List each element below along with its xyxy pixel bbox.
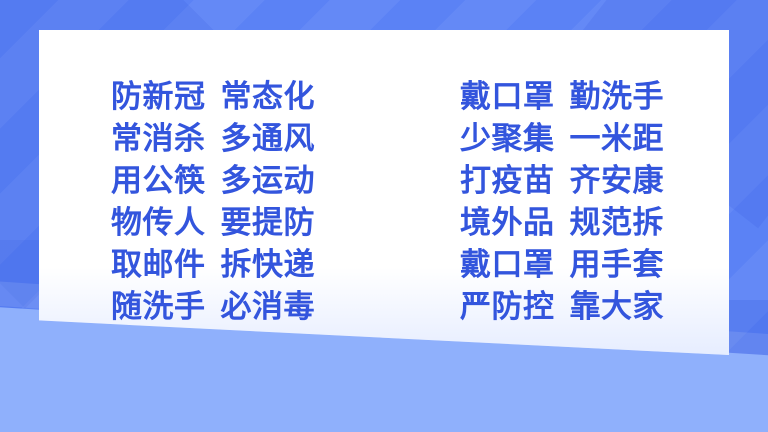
- slogan-phrase-a: 取邮件: [111, 245, 206, 285]
- slogan-line: 常消杀 多通风: [111, 119, 315, 159]
- slogan-phrase-a: 防新冠: [111, 77, 206, 117]
- slogan-line: 用公筷 多运动: [111, 161, 315, 201]
- slogan-phrase-b: 用手套: [570, 245, 665, 285]
- slogan-phrase-b: 要提防: [221, 203, 316, 243]
- slogan-phrase-a: 常消杀: [111, 119, 206, 159]
- slogan-line: 防新冠 常态化: [111, 77, 315, 117]
- slogan-line: 随洗手 必消毒: [111, 287, 315, 327]
- slogan-column-right: 戴口罩 勤洗手 少聚集 一米距 打疫苗 齐安康 境外品 规范拆 戴口罩: [403, 77, 729, 327]
- slogan-line: 打疫苗 齐安康: [460, 161, 664, 201]
- slogan-phrase-a: 戴口罩: [460, 245, 555, 285]
- slogan-phrase-a: 打疫苗: [460, 161, 555, 201]
- slogan-grid: 防新冠 常态化 常消杀 多通风 用公筷 多运动 物传人 要提防 取邮件: [39, 30, 729, 330]
- slogan-phrase-b: 靠大家: [570, 287, 665, 327]
- slogan-phrase-a: 随洗手: [111, 287, 206, 327]
- slogan-line: 严防控 靠大家: [460, 287, 664, 327]
- slogan-phrase-b: 勤洗手: [570, 77, 665, 117]
- slogan-column-left: 防新冠 常态化 常消杀 多通风 用公筷 多运动 物传人 要提防 取邮件: [39, 77, 365, 327]
- slogan-line: 戴口罩 用手套: [460, 245, 664, 285]
- slogan-phrase-a: 戴口罩: [460, 77, 555, 117]
- poster-stage: 防新冠 常态化 常消杀 多通风 用公筷 多运动 物传人 要提防 取邮件: [0, 0, 768, 432]
- slogan-phrase-a: 境外品: [460, 203, 555, 243]
- slogan-phrase-b: 常态化: [221, 77, 316, 117]
- slogan-line: 境外品 规范拆: [460, 203, 664, 243]
- slogan-line: 取邮件 拆快递: [111, 245, 315, 285]
- slogan-phrase-b: 多运动: [221, 161, 316, 201]
- slogan-line: 戴口罩 勤洗手: [460, 77, 664, 117]
- slogan-phrase-b: 一米距: [570, 119, 665, 159]
- slogan-phrase-a: 严防控: [460, 287, 555, 327]
- slogan-phrase-a: 用公筷: [111, 161, 206, 201]
- slogan-line: 少聚集 一米距: [460, 119, 664, 159]
- slogan-phrase-a: 物传人: [111, 203, 206, 243]
- slogan-phrase-b: 拆快递: [221, 245, 316, 285]
- slogan-phrase-b: 规范拆: [570, 203, 665, 243]
- slogan-line: 物传人 要提防: [111, 203, 315, 243]
- slogan-phrase-b: 齐安康: [570, 161, 665, 201]
- slogan-phrase-b: 多通风: [221, 119, 316, 159]
- slogan-phrase-a: 少聚集: [460, 119, 555, 159]
- slogan-phrase-b: 必消毒: [221, 287, 316, 327]
